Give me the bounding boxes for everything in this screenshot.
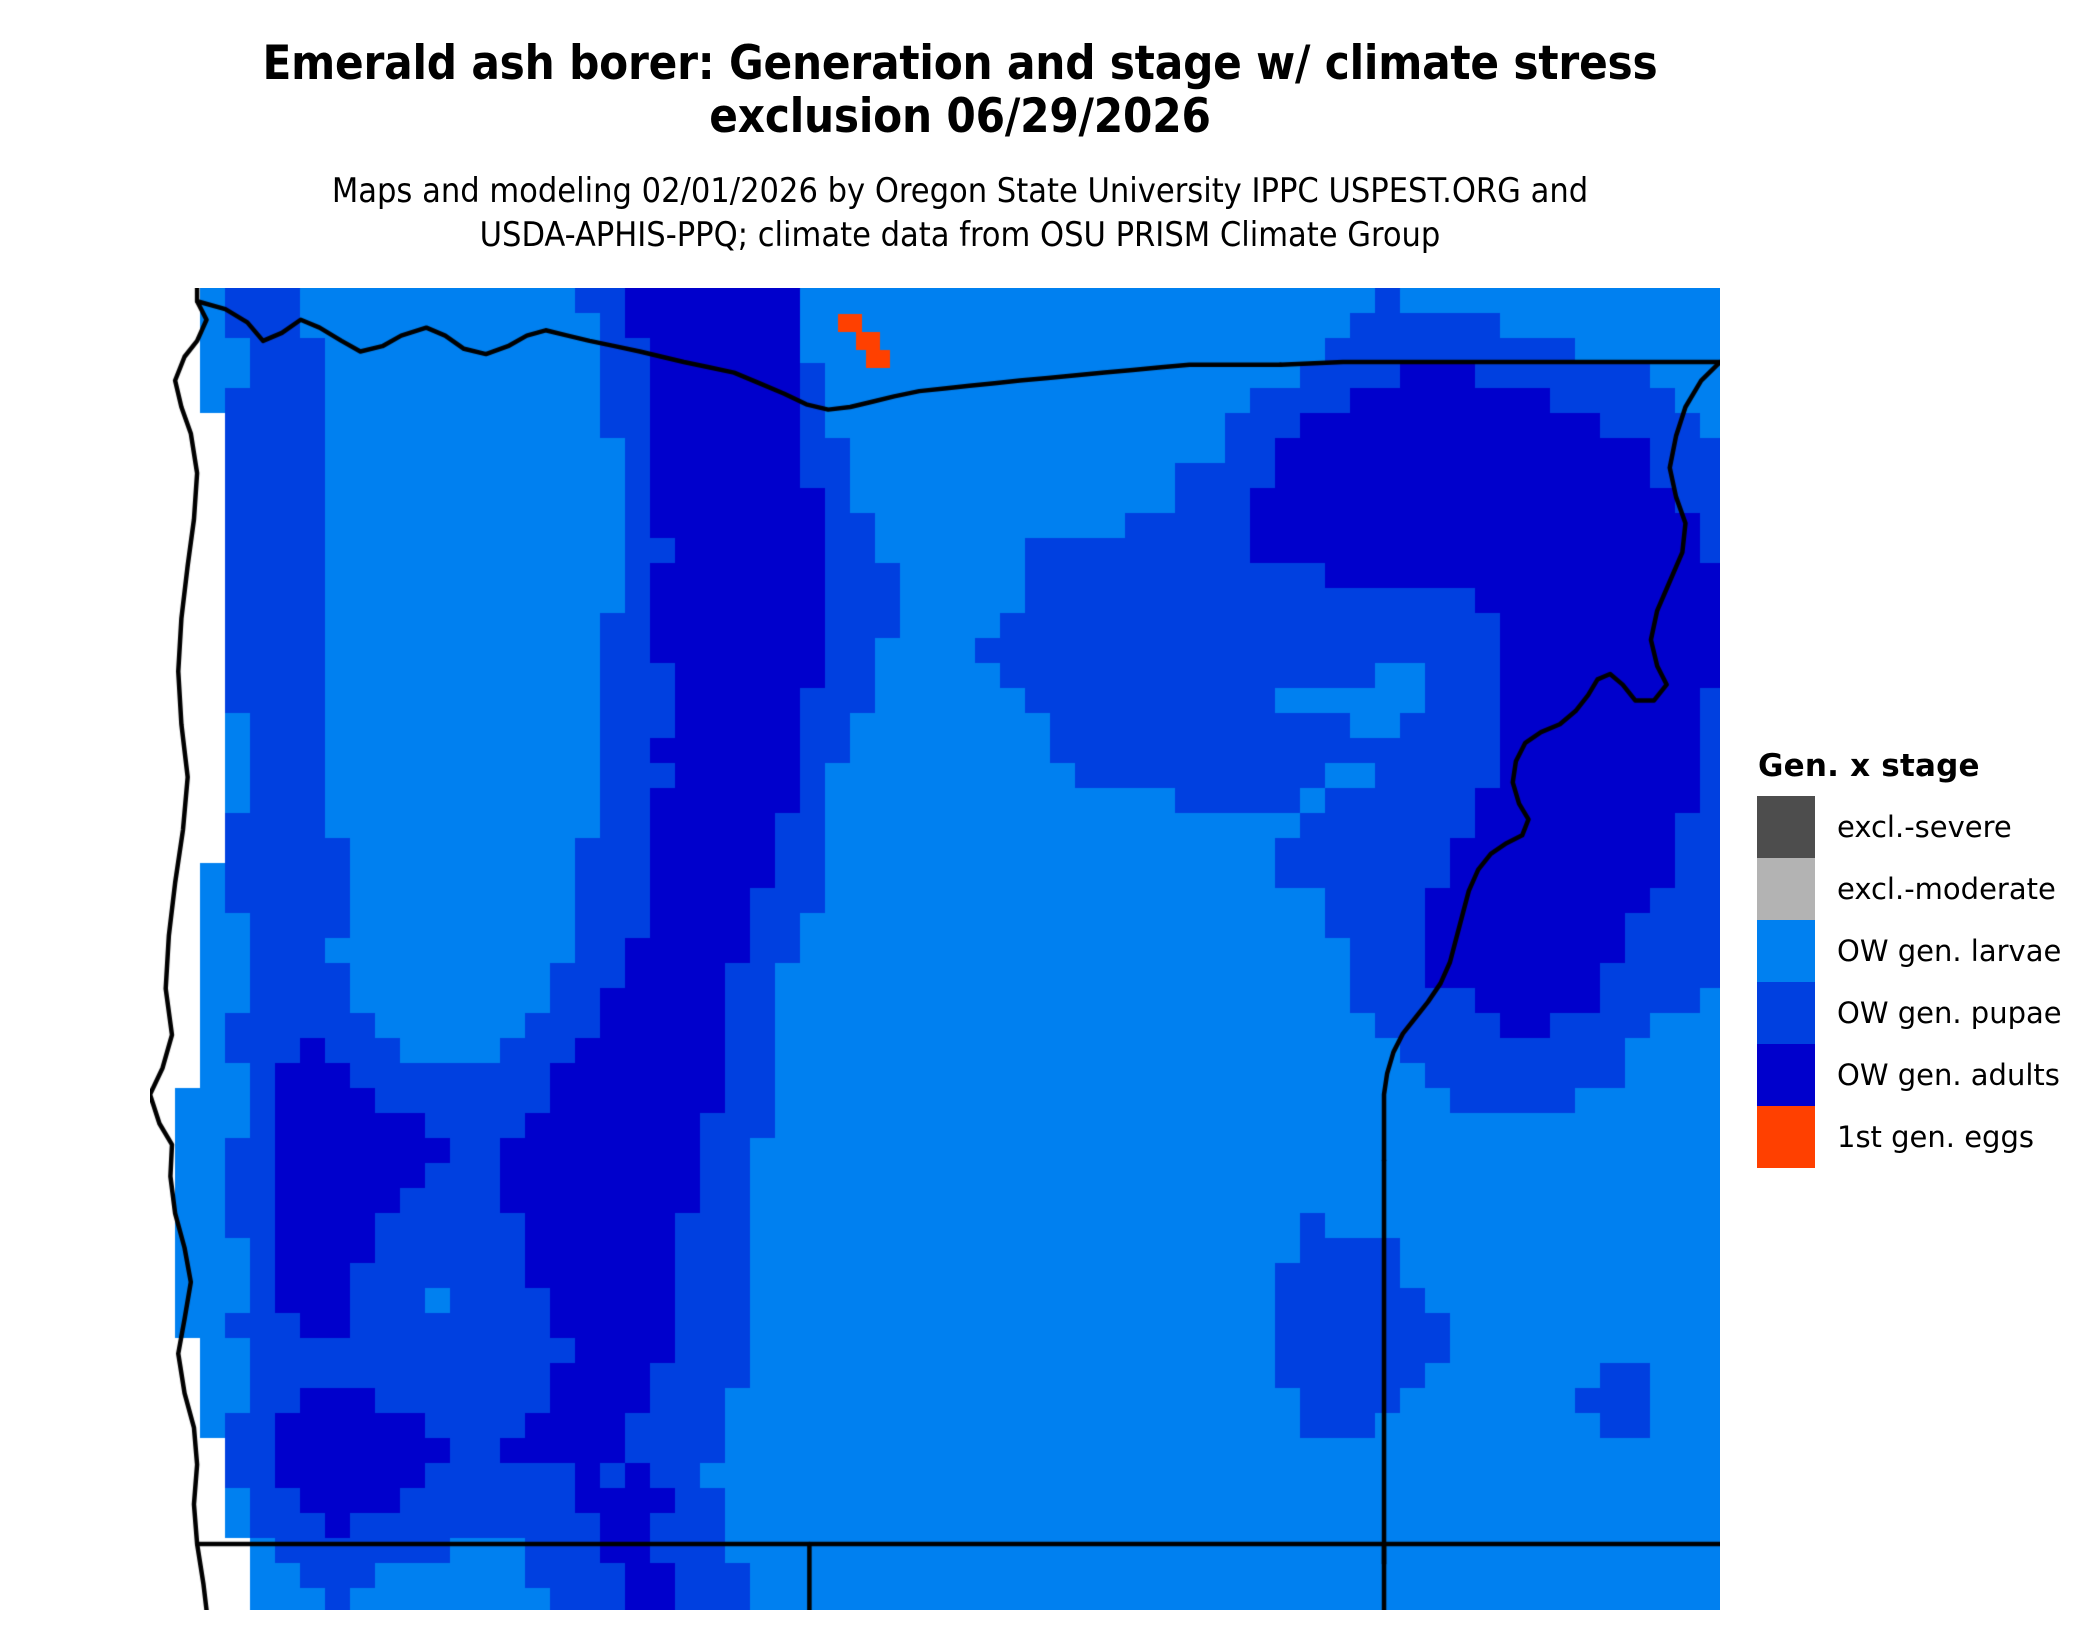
legend-item-label: 1st gen. eggs bbox=[1837, 1106, 2034, 1168]
legend-color-swatch bbox=[1757, 858, 1815, 920]
legend-item: 1st gen. eggs bbox=[1757, 1106, 2087, 1168]
page-title: Emerald ash borer: Generation and stage … bbox=[120, 38, 1800, 143]
legend-title: Gen. x stage bbox=[1758, 748, 2087, 784]
legend-item: OW gen. adults bbox=[1757, 1044, 2087, 1106]
legend-item-label: excl.-severe bbox=[1837, 796, 2012, 858]
legend-item: excl.-moderate bbox=[1757, 858, 2087, 920]
legend: Gen. x stage excl.-severeexcl.-moderateO… bbox=[1757, 748, 2087, 1168]
legend-color-swatch bbox=[1757, 1044, 1815, 1106]
legend-color-swatch bbox=[1757, 1106, 1815, 1168]
legend-item-label: OW gen. adults bbox=[1837, 1044, 2060, 1106]
legend-item: OW gen. larvae bbox=[1757, 920, 2087, 982]
page-subtitle: Maps and modeling 02/01/2026 by Oregon S… bbox=[120, 170, 1800, 257]
figure-root: Emerald ash borer: Generation and stage … bbox=[0, 0, 2100, 1645]
legend-item-label: OW gen. pupae bbox=[1837, 982, 2062, 1044]
legend-color-swatch bbox=[1757, 920, 1815, 982]
legend-color-swatch bbox=[1757, 982, 1815, 1044]
legend-item-label: excl.-moderate bbox=[1837, 858, 2056, 920]
legend-swatch-list: excl.-severeexcl.-moderateOW gen. larvae… bbox=[1757, 796, 2087, 1168]
legend-item: excl.-severe bbox=[1757, 796, 2087, 858]
map-panel[interactable] bbox=[150, 288, 1720, 1610]
raster-map[interactable] bbox=[150, 288, 1720, 1610]
legend-color-swatch bbox=[1757, 796, 1815, 858]
legend-item: OW gen. pupae bbox=[1757, 982, 2087, 1044]
legend-item-label: OW gen. larvae bbox=[1837, 920, 2061, 982]
